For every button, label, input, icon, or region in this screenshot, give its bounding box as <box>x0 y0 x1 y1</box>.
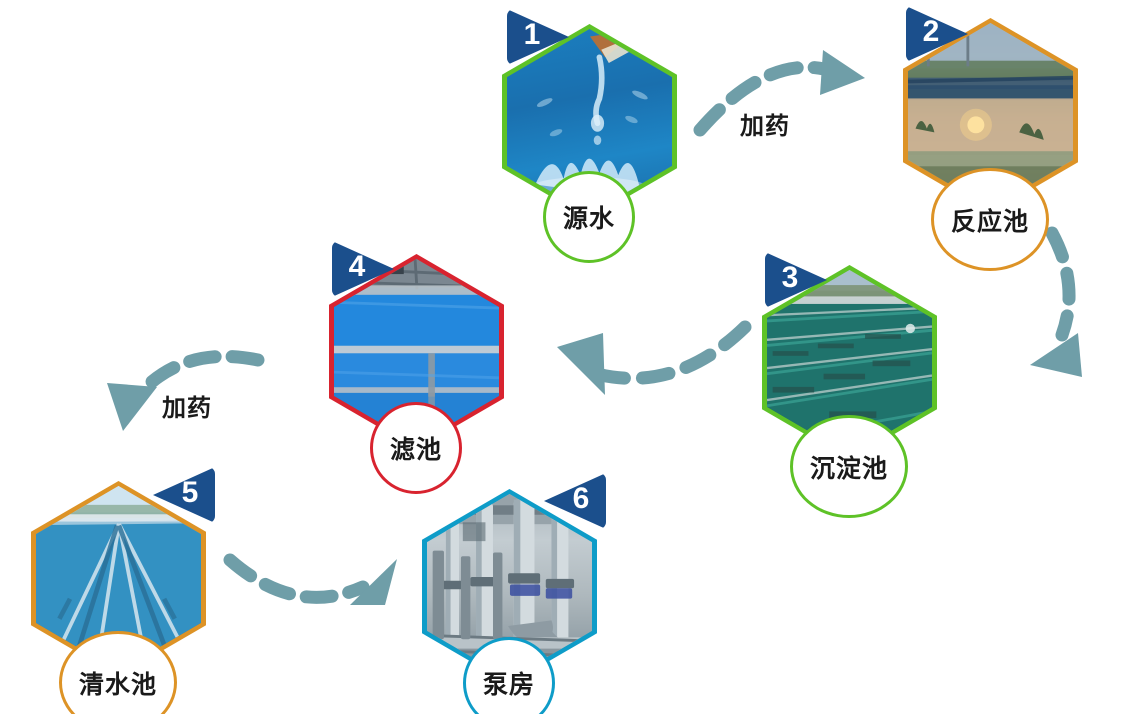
connector-label-add-chemical-1: 加药 <box>740 106 790 141</box>
connector-arrow-sedimentation-to-filter <box>545 315 775 410</box>
caption-sedimentation-tank: 沉淀池 <box>790 415 908 518</box>
connector-label-add-chemical-2: 加药 <box>162 388 212 423</box>
process-flow-diagram: 加药 加药 <box>0 0 1130 714</box>
caption-filter-tank: 滤池 <box>370 402 462 494</box>
caption-reaction-tank: 反应池 <box>931 168 1049 271</box>
connector-arrow-clearwater-to-pumphouse <box>225 545 410 635</box>
connector-arrow-source-to-reaction <box>690 40 890 140</box>
caption-source-water: 源水 <box>543 171 635 263</box>
